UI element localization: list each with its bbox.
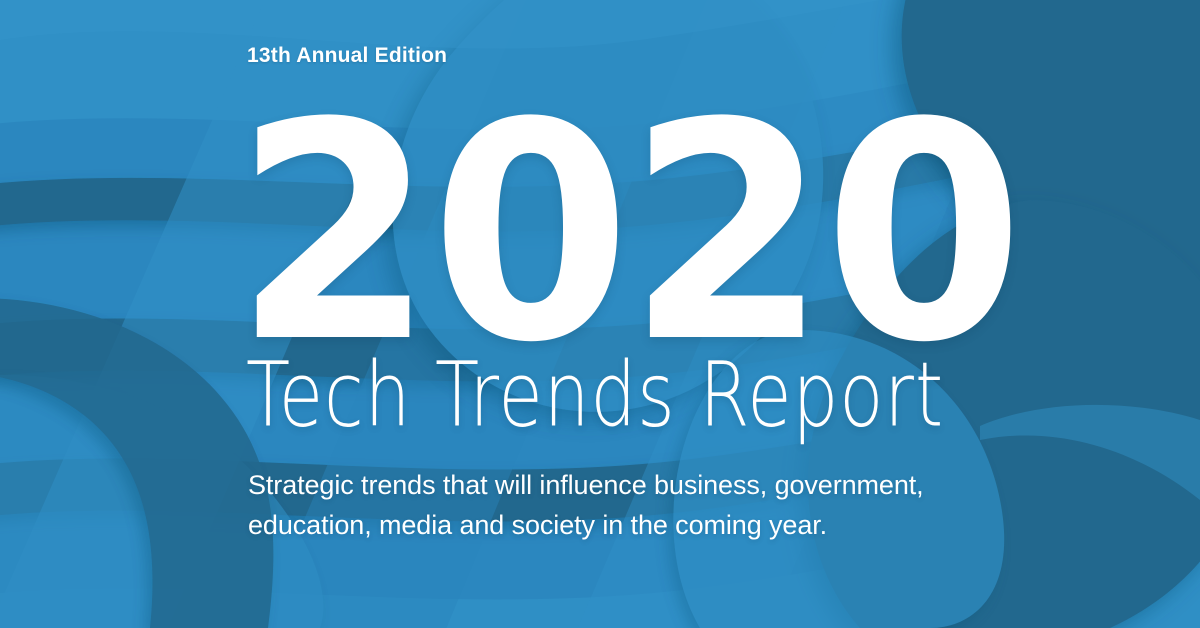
- cover-tagline: Strategic trends that will influence bus…: [248, 465, 988, 545]
- cover-text-block: 13th Annual Edition 2020 Tech Trends Rep…: [246, 0, 1006, 628]
- report-title: Tech Trends Report: [246, 350, 944, 439]
- page-title-year: 2020: [234, 84, 1020, 384]
- report-cover: 13th Annual Edition 2020 Tech Trends Rep…: [0, 0, 1200, 628]
